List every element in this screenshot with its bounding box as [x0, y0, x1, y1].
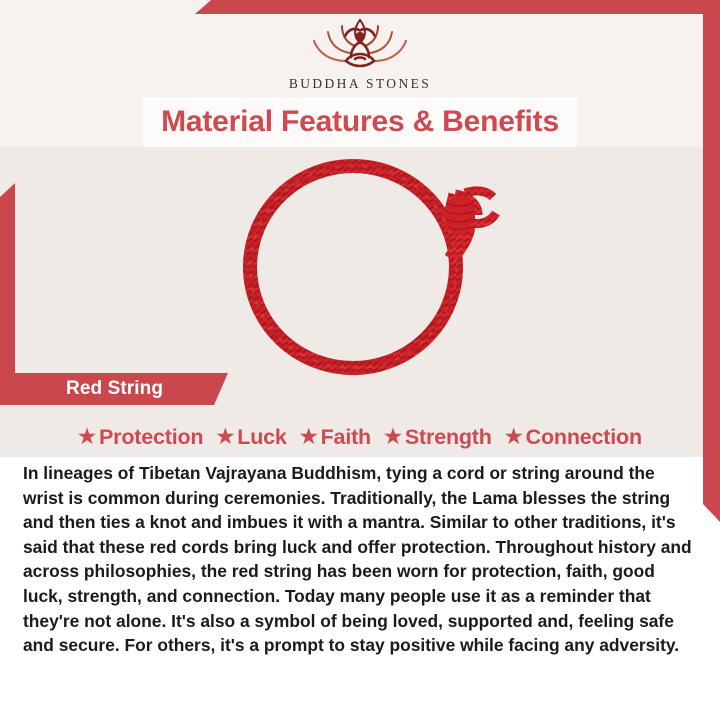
red-braided-string-bracelet-icon: [225, 155, 505, 380]
feature-item-protection: ★ Protection: [78, 425, 203, 450]
feature-label: Protection: [99, 425, 203, 450]
star-icon: ★: [384, 427, 402, 447]
star-icon: ★: [78, 427, 96, 447]
product-label-banner: Red String: [15, 373, 228, 405]
decorative-left-red-bar: [0, 183, 15, 405]
lotus-meditation-icon: [297, 16, 423, 74]
feature-item-connection: ★ Connection: [505, 425, 642, 450]
feature-item-faith: ★ Faith: [300, 425, 371, 450]
feature-list: ★ Protection ★ Luck ★ Faith ★ Strength ★…: [0, 420, 720, 454]
feature-label: Connection: [526, 425, 642, 450]
product-label: Red String: [15, 378, 163, 400]
brand-name: BUDDHA STONES: [0, 76, 720, 92]
decorative-top-red-strip: [195, 0, 720, 14]
page-title: Material Features & Benefits: [161, 105, 559, 139]
star-icon: ★: [300, 427, 318, 447]
feature-item-luck: ★ Luck: [216, 425, 286, 450]
description-text: In lineages of Tibetan Vajrayana Buddhis…: [23, 461, 695, 658]
feature-label: Luck: [237, 425, 286, 450]
star-icon: ★: [216, 427, 234, 447]
feature-label: Strength: [405, 425, 492, 450]
infographic-page: BUDDHA STONES Material Features & Benefi…: [0, 0, 720, 720]
star-icon: ★: [505, 427, 523, 447]
feature-label: Faith: [321, 425, 371, 450]
product-image: [225, 155, 505, 380]
brand-logo: BUDDHA STONES: [0, 16, 720, 92]
title-banner: Material Features & Benefits: [143, 97, 577, 147]
feature-item-strength: ★ Strength: [384, 425, 492, 450]
